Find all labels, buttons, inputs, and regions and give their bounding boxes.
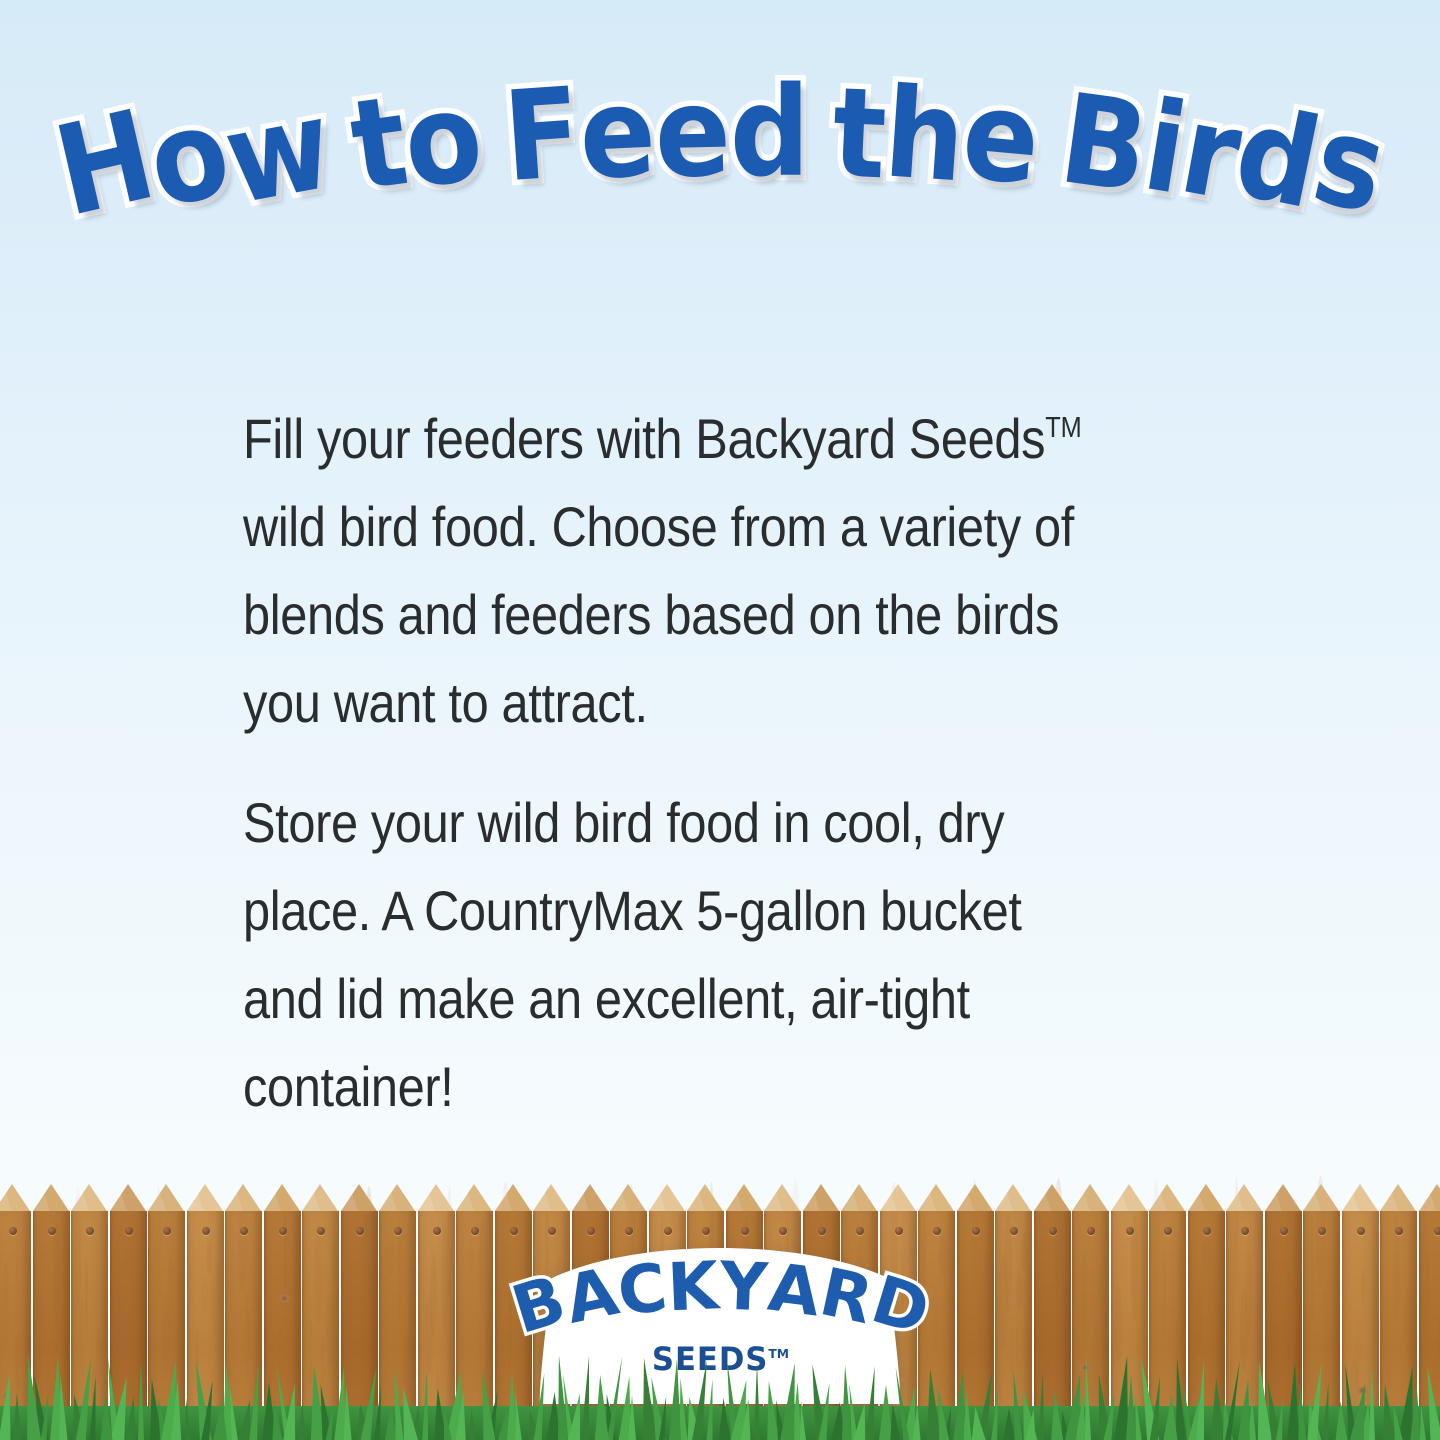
wood-grain <box>135 1222 139 1320</box>
picket-tip <box>533 1184 569 1211</box>
headline-char: w <box>218 90 338 218</box>
picket-nail <box>1010 1227 1018 1235</box>
wood-grain <box>206 1240 212 1274</box>
picket-tip <box>803 1184 839 1211</box>
headline-char: s <box>1305 104 1393 227</box>
picket-nail <box>9 1227 17 1235</box>
headline-char: B <box>1055 84 1152 206</box>
wood-grain <box>348 1256 351 1342</box>
grass-blade <box>669 1359 683 1440</box>
picket-tip <box>572 1184 608 1211</box>
logo-brand-char: D <box>865 1269 934 1344</box>
wood-grain <box>85 1258 88 1343</box>
page-title: How to Feed the Birds <box>71 108 1369 220</box>
picket-nail <box>125 1227 133 1235</box>
grass-blade <box>171 1379 182 1440</box>
paragraph-fill-text-b: wild bird food. Choose from a variety of… <box>243 495 1074 734</box>
picket-nail <box>394 1227 402 1235</box>
wood-grain <box>1426 1248 1429 1338</box>
picket-tip <box>1149 1184 1185 1211</box>
wood-grain <box>999 1254 1008 1349</box>
wood-grain <box>468 1238 474 1273</box>
grass-blade <box>1049 1391 1063 1440</box>
grass-blade <box>138 1359 144 1440</box>
picket-tip <box>610 1184 646 1211</box>
picket-nail <box>163 1227 171 1235</box>
wood-grain <box>124 1242 133 1279</box>
picket-nail <box>1241 1227 1249 1235</box>
picket-tip <box>33 1184 69 1211</box>
logo-brand-char: A <box>560 1261 621 1333</box>
picket-nail <box>471 1227 479 1235</box>
grass-blade <box>628 1395 636 1440</box>
picket-tip <box>918 1184 954 1211</box>
headline-char: F <box>501 78 583 194</box>
grass-blade <box>298 1402 307 1440</box>
wood-grain <box>1021 1234 1027 1271</box>
wood-grain <box>933 1286 939 1358</box>
wood-grain <box>3 1260 9 1348</box>
wood-grain <box>1213 1214 1217 1316</box>
picket-tip <box>841 1184 877 1211</box>
logo-brand-char: K <box>666 1256 718 1321</box>
grass-blade <box>213 1399 229 1440</box>
picket-tip <box>1303 1184 1339 1211</box>
headline-char: e <box>959 80 1042 198</box>
picket-nail <box>48 1227 56 1235</box>
grass-blade <box>754 1362 760 1440</box>
grass-blade <box>1083 1355 1091 1440</box>
picket-nail <box>202 1227 210 1235</box>
picket-nail <box>1280 1227 1288 1235</box>
paragraph-fill-text-a: Fill your feeders with Backyard Seeds <box>243 407 1045 470</box>
body-copy: Fill your feeders with Backyard SeedsTM … <box>243 384 1233 1131</box>
wood-grain <box>315 1222 322 1324</box>
picket-nail <box>240 1227 248 1235</box>
picket-tip <box>0 1184 30 1211</box>
wood-grain <box>1295 1212 1303 1311</box>
wood-grain <box>386 1240 395 1278</box>
picket-nail <box>1087 1227 1095 1235</box>
picket-nail <box>933 1227 941 1235</box>
headline-char: t <box>830 78 886 192</box>
picket-nail <box>1164 1227 1172 1235</box>
headline-char <box>321 92 360 206</box>
grass-blade <box>1369 1365 1375 1440</box>
picket-nail <box>972 1227 980 1235</box>
headline-char: d <box>1227 97 1326 222</box>
picket-nail <box>1126 1227 1134 1235</box>
headline-char: H <box>47 101 161 230</box>
wood-grain <box>1202 1234 1211 1275</box>
picket-tip <box>687 1184 723 1211</box>
picket-nail <box>1434 1227 1440 1235</box>
wood-grain <box>201 1280 208 1311</box>
picket-tip <box>187 1184 223 1211</box>
picket-tip <box>880 1184 916 1211</box>
paragraph-store: Store your wild bird food in cool, dry p… <box>243 779 1104 1131</box>
grass-blade <box>99 1395 112 1440</box>
grass-blade <box>183 1398 191 1440</box>
picket-nail <box>1318 1227 1326 1235</box>
picket-tip <box>302 1184 338 1211</box>
headline-char: h <box>881 78 966 195</box>
paragraph-fill: Fill your feeders with Backyard SeedsTM … <box>243 384 1104 747</box>
picket-tip <box>341 1184 377 1211</box>
wood-grain <box>1120 1236 1125 1280</box>
wood-grain <box>1081 1252 1087 1344</box>
picket-nail <box>317 1227 325 1235</box>
headline-char: t <box>345 86 411 204</box>
picket-tip <box>957 1184 993 1211</box>
picket-nail <box>1395 1227 1403 1235</box>
grass-blade <box>469 1408 476 1440</box>
wood-grain <box>1229 1218 1235 1330</box>
picket-nail <box>1357 1227 1365 1235</box>
grass-blade <box>593 1375 609 1440</box>
headline-char: o <box>399 82 486 201</box>
picket-tip <box>1265 1184 1301 1211</box>
headline-char <box>1032 85 1066 198</box>
picket-tip <box>110 1184 146 1211</box>
logo-brand-text: BACKYARD <box>525 1256 915 1336</box>
picket-tip <box>995 1184 1031 1211</box>
wood-grain <box>1361 1270 1365 1302</box>
picket-nail <box>433 1227 441 1235</box>
wood-grain <box>332 1242 337 1283</box>
headline-char <box>808 78 833 190</box>
trademark-symbol: TM <box>1045 412 1082 444</box>
wood-grain <box>42 1244 47 1284</box>
picket-tip <box>1188 1184 1224 1211</box>
picket-nail <box>86 1227 94 1235</box>
headline-container: How to Feed the Birds <box>0 0 1440 330</box>
picket-tip <box>418 1184 454 1211</box>
picket-tip <box>1419 1184 1440 1211</box>
picket-tip <box>726 1184 762 1211</box>
grass-blade <box>913 1405 922 1440</box>
logo-brand-char: Y <box>719 1256 767 1321</box>
picket-tip <box>764 1184 800 1211</box>
headline-char: o <box>141 97 237 221</box>
grass-blade <box>1163 1395 1178 1440</box>
picket-tip <box>1226 1184 1262 1211</box>
wood-grain <box>53 1224 60 1325</box>
picket-tip <box>456 1184 492 1211</box>
picket-tip <box>71 1184 107 1211</box>
logo-brand-char: C <box>614 1257 668 1325</box>
headline-char: r <box>1174 94 1246 213</box>
grass-blade <box>342 1385 351 1440</box>
picket-tip <box>1380 1184 1416 1211</box>
wood-grain <box>1372 1250 1378 1343</box>
picket-tip <box>225 1184 261 1211</box>
picket-tip <box>1111 1184 1147 1211</box>
picket-nail <box>1049 1227 1057 1235</box>
wood-knot <box>279 1294 290 1303</box>
headline-char <box>476 82 508 195</box>
picket-tip <box>148 1184 184 1211</box>
picket-tip <box>1034 1184 1070 1211</box>
grass-blade <box>13 1392 21 1440</box>
picket-nail <box>1203 1227 1211 1235</box>
picket-nail <box>356 1227 364 1235</box>
poster-canvas: How to Feed the Birds Fill your feeders … <box>0 0 1440 1440</box>
grass-illustration <box>0 1350 1440 1440</box>
headline-char: e <box>654 77 730 190</box>
logo-brand-char: A <box>765 1257 822 1325</box>
picket-tip <box>1072 1184 1108 1211</box>
grass-blade <box>1126 1375 1136 1440</box>
picket-tip <box>264 1184 300 1211</box>
picket-tip <box>495 1184 531 1211</box>
headline-char: i <box>1137 91 1190 207</box>
picket-tip <box>1342 1184 1378 1211</box>
wood-grain <box>294 1258 300 1347</box>
wood-grain <box>1163 1250 1166 1339</box>
logo-brand-char: B <box>506 1269 571 1343</box>
headline-char: e <box>577 78 656 193</box>
picket-tip <box>379 1184 415 1211</box>
wood-grain <box>1311 1216 1314 1325</box>
wood-grain <box>212 1260 221 1352</box>
wood-grain <box>442 1224 448 1333</box>
headline-char: d <box>730 78 808 190</box>
wood-grain <box>1098 1272 1102 1303</box>
wood-grain <box>479 1218 487 1314</box>
wood-grain <box>939 1236 948 1276</box>
picket-nail <box>279 1227 287 1235</box>
wood-grain <box>1016 1274 1023 1308</box>
picket-tip <box>649 1184 685 1211</box>
